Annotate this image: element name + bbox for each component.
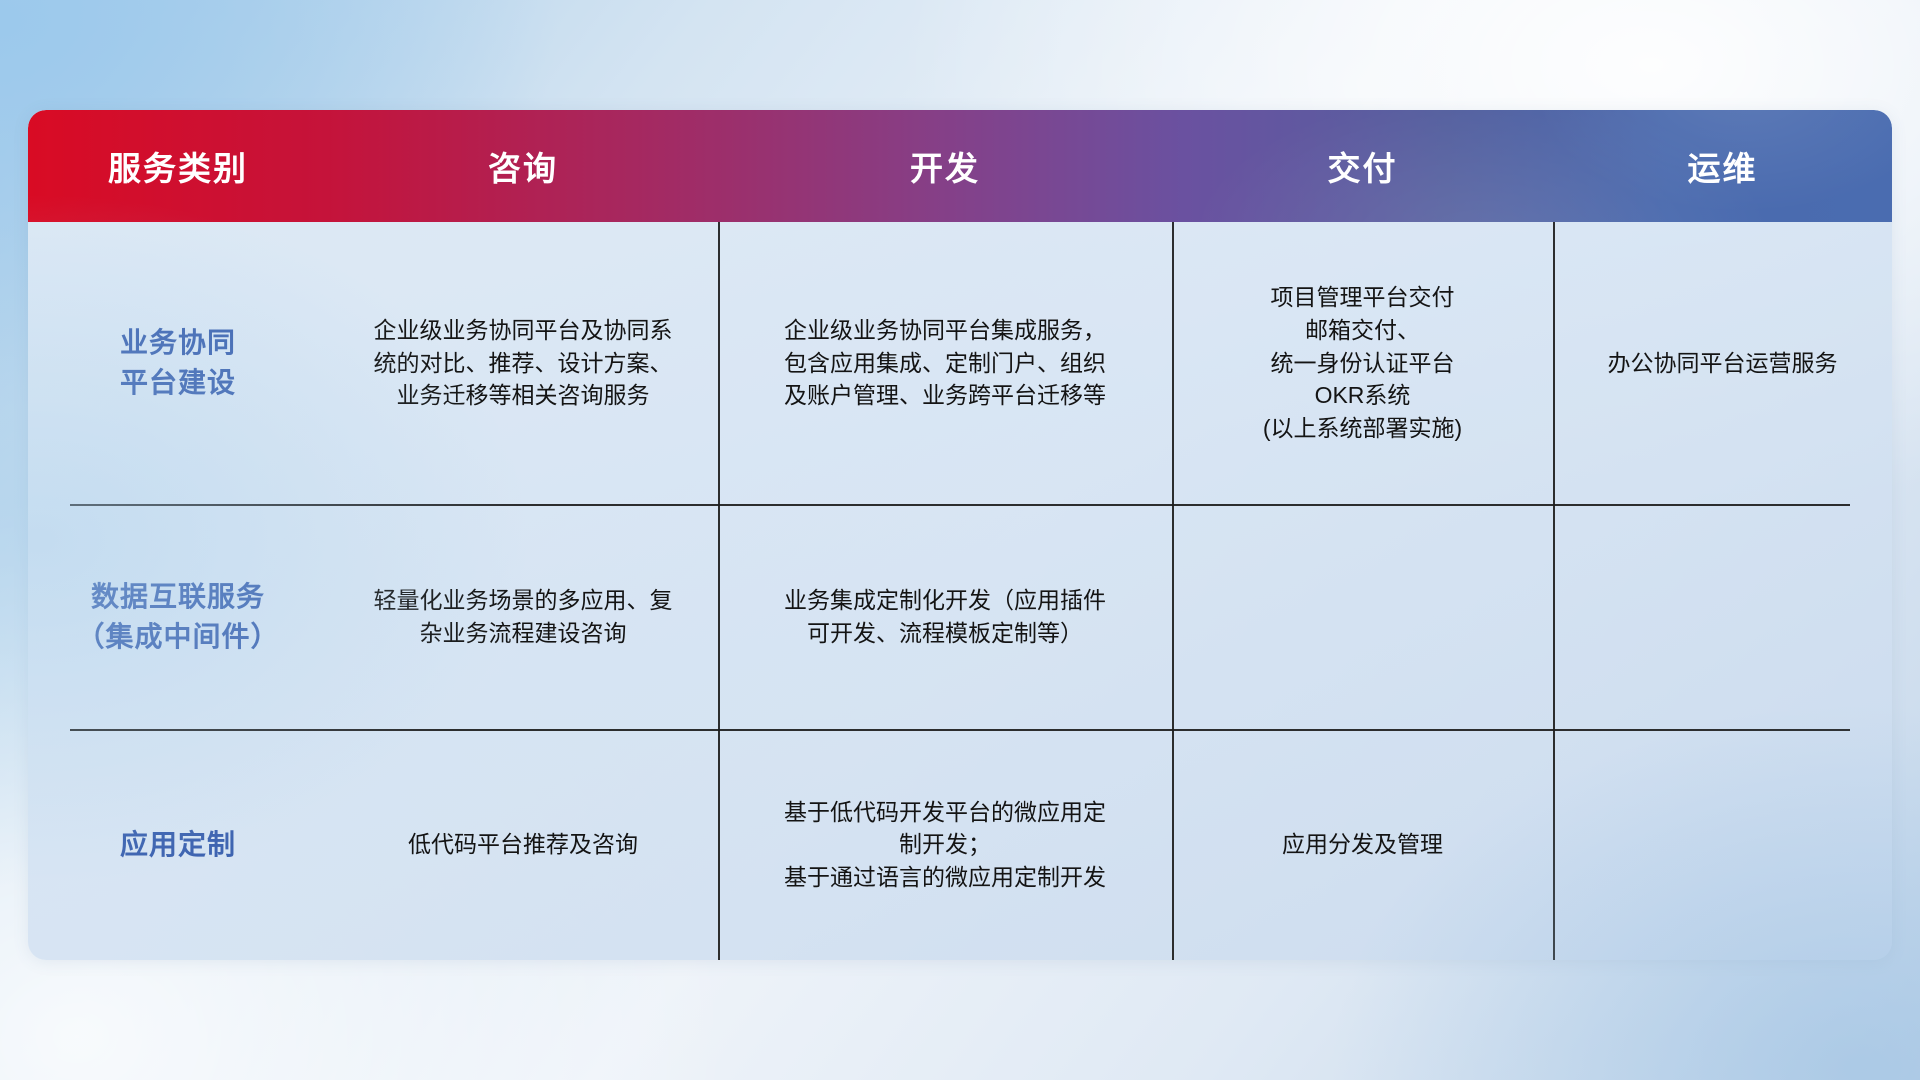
cell-development: 企业级业务协同平台集成服务， 包含应用集成、定制门户、组织 及账户管理、业务跨平… [718, 222, 1172, 504]
column-header-consulting: 咨询 [328, 142, 718, 190]
column-header-development: 开发 [718, 142, 1172, 190]
cell-consulting: 企业级业务协同平台及协同系 统的对比、推荐、设计方案、 业务迁移等相关咨询服务 [328, 222, 718, 504]
row-category-label: 应用定制 [28, 729, 328, 960]
cell-consulting: 轻量化业务场景的多应用、复 杂业务流程建设咨询 [328, 504, 718, 729]
table-row: 应用定制 低代码平台推荐及咨询 基于低代码开发平台的微应用定 制开发； 基于通过… [28, 729, 1892, 960]
column-header-operations: 运维 [1553, 142, 1892, 190]
cell-operations: 办公协同平台运营服务 [1553, 222, 1892, 504]
cell-operations [1553, 504, 1892, 729]
table-row: 数据互联服务 （集成中间件） 轻量化业务场景的多应用、复 杂业务流程建设咨询 业… [28, 504, 1892, 729]
column-header-category: 服务类别 [28, 142, 328, 190]
cell-delivery: 项目管理平台交付 邮箱交付、 统一身份认证平台 OKR系统 (以上系统部署实施) [1172, 222, 1553, 504]
row-category-label: 数据互联服务 （集成中间件） [28, 504, 328, 729]
column-header-delivery: 交付 [1172, 142, 1553, 190]
cell-consulting: 低代码平台推荐及咨询 [328, 729, 718, 960]
table-row: 业务协同 平台建设 企业级业务协同平台及协同系 统的对比、推荐、设计方案、 业务… [28, 222, 1892, 504]
cell-delivery [1172, 504, 1553, 729]
cell-delivery: 应用分发及管理 [1172, 729, 1553, 960]
row-category-label: 业务协同 平台建设 [28, 222, 328, 504]
table-body: 业务协同 平台建设 企业级业务协同平台及协同系 统的对比、推荐、设计方案、 业务… [28, 222, 1892, 960]
table-header-row: 服务类别 咨询 开发 交付 运维 [28, 110, 1892, 222]
cell-development: 基于低代码开发平台的微应用定 制开发； 基于通过语言的微应用定制开发 [718, 729, 1172, 960]
slide-background: 服务类别 咨询 开发 交付 运维 业务协同 平台建设 企业级业务协同平台及协同系… [0, 0, 1920, 1080]
cell-operations [1553, 729, 1892, 960]
service-matrix-table: 服务类别 咨询 开发 交付 运维 业务协同 平台建设 企业级业务协同平台及协同系… [28, 110, 1892, 960]
cell-development: 业务集成定制化开发（应用插件 可开发、流程模板定制等） [718, 504, 1172, 729]
